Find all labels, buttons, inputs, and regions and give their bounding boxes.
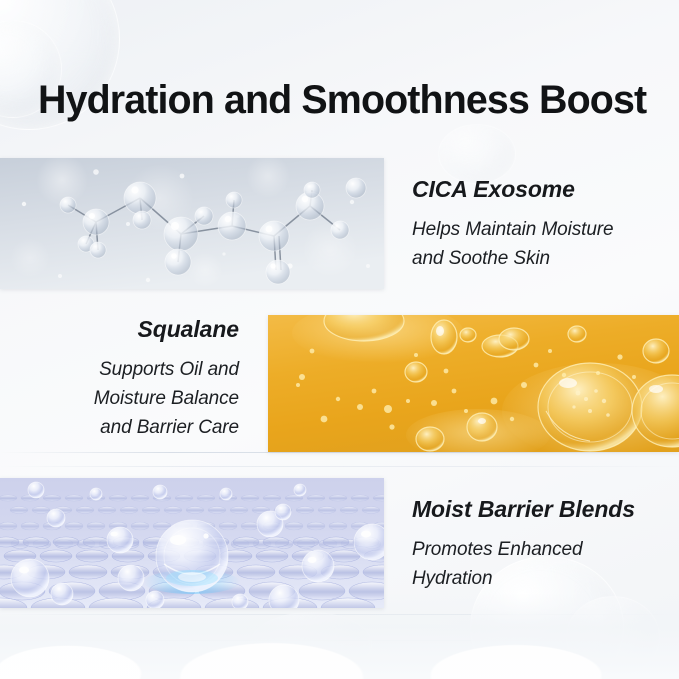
squalane-copy: Squalane Supports Oil and Moisture Balan… (36, 316, 239, 442)
decorative-bubble (566, 596, 660, 678)
cica-exosome-copy: CICA Exosome Helps Maintain Moisture and… (412, 176, 670, 273)
molecule-structure-image (0, 158, 384, 289)
decorative-bubble (438, 124, 516, 184)
decorative-bubble (250, 612, 372, 676)
lattice-droplets-image (0, 478, 384, 608)
cica-exosome-heading: CICA Exosome (412, 176, 670, 203)
page-title: Hydration and Smoothness Boost (38, 78, 646, 123)
infographic-page: Hydration and Smoothness Boost (0, 0, 679, 679)
squalane-description: Supports Oil and Moisture Balance and Ba… (36, 355, 239, 442)
cica-exosome-description: Helps Maintain Moisture and Soothe Skin (412, 215, 670, 273)
moist-barrier-blends-heading: Moist Barrier Blends (412, 496, 670, 523)
moist-barrier-blends-copy: Moist Barrier Blends Promotes Enhanced H… (412, 496, 670, 593)
moist-barrier-blends-description: Promotes Enhanced Hydration (412, 535, 670, 593)
squalane-heading: Squalane (36, 316, 239, 343)
golden-oil-bubbles-image (268, 315, 679, 452)
